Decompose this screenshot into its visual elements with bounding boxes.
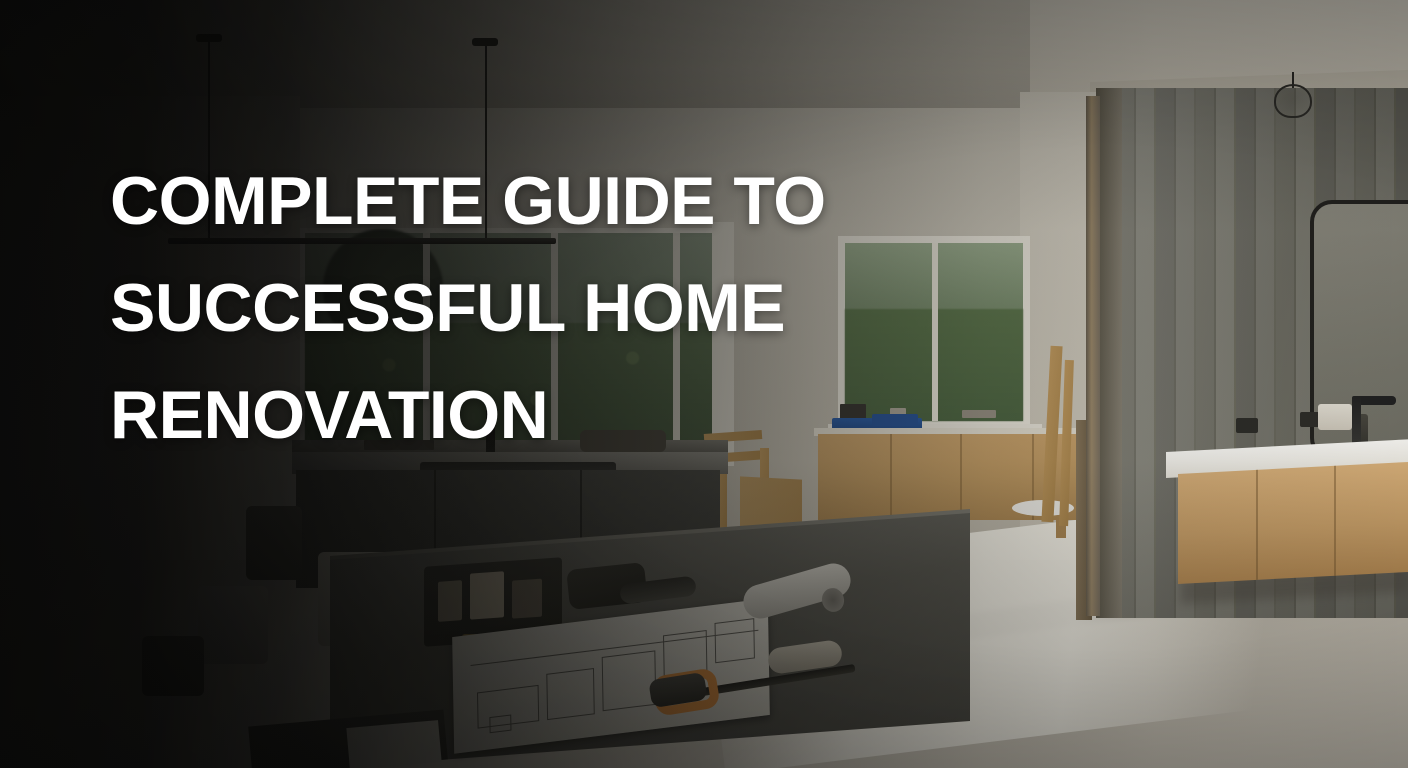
renovation-hero-banner: COMPLETE GUIDE TO SUCCESSFUL HOME RENOVA…: [0, 0, 1408, 768]
headline-line-2: SUCCESSFUL HOME: [110, 255, 970, 362]
headline-line-3: RENOVATION: [110, 362, 970, 469]
headline-block: COMPLETE GUIDE TO SUCCESSFUL HOME RENOVA…: [110, 148, 970, 469]
headline-line-1: COMPLETE GUIDE TO: [110, 148, 970, 255]
